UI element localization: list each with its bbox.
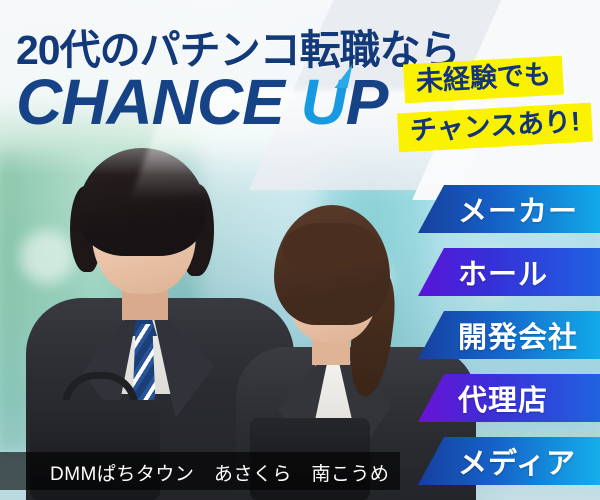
category-item-maker[interactable]: メーカー (418, 185, 600, 233)
advertisement-banner[interactable]: 20代のパチンコ転職なら CHANCE UP 未経験でも チャンスあり! メーカ… (0, 0, 600, 500)
category-label: 開発会社 (458, 314, 578, 356)
category-item-agency[interactable]: 代理店 (418, 374, 600, 422)
category-label: ホール (458, 251, 548, 293)
logo-letter-p: P (346, 66, 388, 138)
category-item-hall[interactable]: ホール (418, 248, 600, 296)
logo-word-chance: CHANCE (16, 66, 301, 138)
category-label: メディア (458, 440, 576, 482)
logo-letter-u: U (301, 70, 346, 134)
category-item-media[interactable]: メディア (418, 437, 600, 485)
category-label: 代理店 (458, 377, 548, 419)
logo-chance-up: CHANCE UP (16, 70, 387, 134)
category-item-developer[interactable]: 開発会社 (418, 311, 600, 359)
woman-bangs (282, 223, 380, 269)
category-label: メーカー (458, 188, 578, 230)
caption-credits: DMMぱちタウン あさくら 南こうめ (50, 459, 389, 486)
